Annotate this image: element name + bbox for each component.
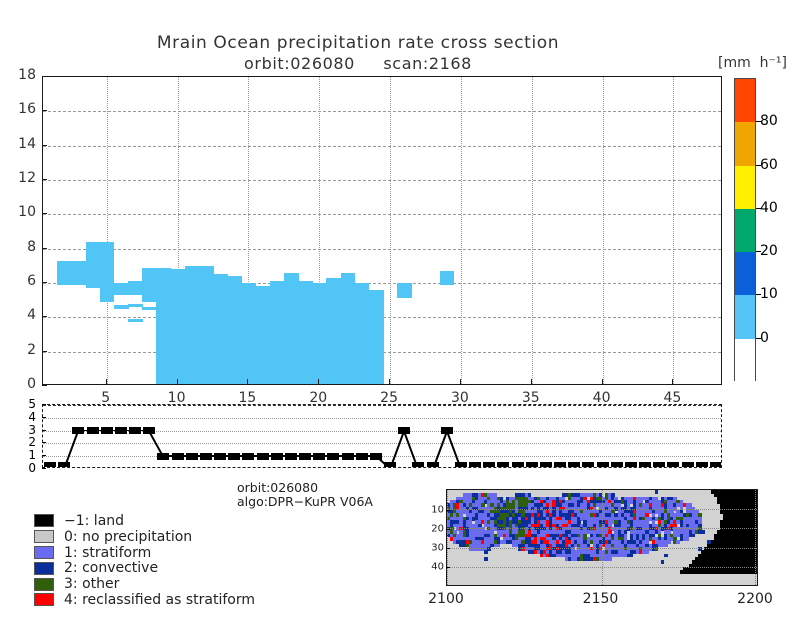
metadata-block: orbit:026080 algo:DPR−KuPR V06A (237, 481, 373, 509)
main-y-tick-mark (42, 316, 47, 317)
main-y-tick-mark (42, 282, 47, 283)
type-panel-gridline (43, 405, 721, 406)
type-step-marker (497, 462, 509, 468)
main-x-tick-mark (672, 379, 673, 385)
legend-item[interactable]: 3: other (34, 576, 255, 592)
colorbar-band (735, 79, 755, 123)
main-y-tick-mark (42, 213, 47, 214)
map-inset[interactable] (446, 489, 758, 586)
type-step-marker (625, 462, 637, 468)
map-pixel (667, 540, 671, 544)
type-panel-y-tick-mark (42, 455, 46, 456)
colorbar-band (735, 295, 755, 339)
map-pixel (608, 557, 612, 561)
precip-column-block (171, 269, 186, 385)
precip-column-block (284, 273, 299, 385)
precip-column-block (185, 266, 200, 385)
legend-item-label: 2: convective (64, 560, 158, 576)
type-step-marker (526, 462, 538, 468)
type-step-marker (455, 462, 467, 468)
map-y-tick-mark (446, 567, 450, 568)
type-step-marker (682, 462, 694, 468)
type-panel-y-tick-mark (42, 404, 46, 405)
type-connector-line (432, 430, 448, 468)
legend-color-swatch (34, 562, 54, 575)
map-x-tick-label: 2200 (725, 591, 785, 607)
map-y-tick-label: 10 (426, 504, 444, 515)
type-step-marker (412, 462, 424, 468)
precip-column-block (128, 281, 143, 295)
type-step-marker (639, 462, 651, 468)
precip-column-block (270, 281, 285, 385)
type-panel-gridline (43, 418, 721, 419)
type-step-marker (710, 462, 722, 468)
map-y-tick-label: 30 (426, 543, 444, 554)
main-y-tick-mark (42, 248, 47, 249)
map-gridline-vertical (447, 490, 448, 585)
main-x-tick-mark (602, 379, 603, 385)
colorbar-band (735, 339, 755, 383)
legend-item-label: 3: other (64, 576, 119, 592)
precip-column-block (114, 283, 129, 295)
map-pixel (701, 530, 705, 534)
colorbar-tick-mark (756, 294, 761, 295)
precip-column-block (142, 268, 157, 302)
colorbar-tick-mark (756, 208, 761, 209)
main-x-tick-mark (247, 379, 248, 385)
main-x-tick-mark (106, 379, 107, 385)
legend-color-swatch (34, 578, 54, 591)
type-step-marker (540, 462, 552, 468)
map-x-tick-label: 2100 (416, 591, 476, 607)
precip-column-block (213, 274, 228, 385)
precip-column-block (298, 281, 313, 385)
main-y-tick-label: 6 (6, 273, 36, 289)
precip-column-block (142, 307, 157, 310)
main-y-tick-label: 0 (6, 376, 36, 392)
main-y-tick-label: 10 (6, 204, 36, 220)
legend-item-label: −1: land (64, 513, 124, 529)
map-pixel (484, 550, 488, 554)
precip-column-block (156, 268, 171, 385)
type-step-marker (611, 462, 623, 468)
map-pixel (686, 537, 690, 541)
legend-item-label: 0: no precipitation (64, 529, 192, 545)
map-pixel (645, 550, 649, 554)
type-panel-gridline (43, 456, 721, 457)
page-subtitle: orbit:026080 scan:2168 (0, 54, 716, 73)
main-y-tick-label: 14 (6, 136, 36, 152)
main-y-tick-mark (42, 110, 47, 111)
precip-column-block (326, 278, 341, 385)
main-y-tick-label: 18 (6, 67, 36, 83)
type-panel-y-tick-mark (42, 468, 46, 469)
precip-column-block (256, 286, 271, 385)
main-x-tick-mark (318, 379, 319, 385)
legend-item[interactable]: 4: reclassified as stratiform (34, 592, 255, 608)
precip-column-block (355, 283, 370, 385)
precip-column-block (241, 283, 256, 385)
map-x-tick-label: 2150 (571, 591, 631, 607)
map-gridline-vertical (602, 490, 603, 585)
map-pixel (664, 554, 668, 558)
colorbar-tick-label: 80 (760, 113, 778, 129)
main-y-tick-mark (42, 179, 47, 180)
precip-column-block (86, 242, 101, 288)
type-step-marker (554, 462, 566, 468)
legend-item[interactable]: 2: convective (34, 560, 255, 576)
type-step-marker (469, 462, 481, 468)
precip-column-block (128, 304, 143, 307)
main-y-tick-label: 8 (6, 239, 36, 255)
map-y-tick-mark (446, 548, 450, 549)
meta-algo: algo:DPR−KuPR V06A (237, 495, 373, 509)
map-pixel (661, 560, 665, 564)
colorbar-band (735, 209, 755, 253)
colorbar-tick-mark (756, 338, 761, 339)
precip-column-block (100, 242, 115, 302)
page-title: Mrain Ocean precipitation rate cross sec… (0, 33, 716, 53)
colorbar-tick-mark (756, 121, 761, 122)
type-step-marker (597, 462, 609, 468)
precip-column-block (57, 261, 72, 285)
colorbar-tick-label: 20 (760, 243, 778, 259)
main-x-tick-mark (531, 379, 532, 385)
map-y-tick-mark (446, 529, 450, 530)
main-y-tick-label: 12 (6, 170, 36, 186)
precip-column-block (114, 305, 129, 308)
main-y-tick-mark (42, 351, 47, 352)
type-connector-line (389, 430, 405, 468)
type-panel-y-tick-mark (42, 430, 46, 431)
legend-color-swatch (34, 530, 54, 543)
legend-color-swatch (34, 593, 54, 606)
colorbar-tick-mark (756, 165, 761, 166)
legend-item[interactable]: 0: no precipitation (34, 529, 255, 545)
legend-item[interactable]: 1: stratiform (34, 545, 255, 561)
colorbar-tick-label: 10 (760, 286, 778, 302)
type-panel-y-tick-mark (42, 442, 46, 443)
legend-color-swatch (34, 546, 54, 559)
map-y-tick-label: 40 (426, 562, 444, 573)
precip-column-block (369, 290, 384, 385)
main-x-tick-mark (177, 379, 178, 385)
colorbar[interactable] (734, 78, 756, 381)
legend-item-label: 4: reclassified as stratiform (64, 592, 255, 608)
colorbar-tick-label: 60 (760, 157, 778, 173)
precip-column-block (440, 271, 455, 285)
precip-column-block (227, 276, 242, 385)
type-panel-y-tick-mark (42, 417, 46, 418)
type-step-marker (568, 462, 580, 468)
map-gridline-vertical (755, 490, 756, 585)
main-x-tick-mark (460, 379, 461, 385)
colorbar-band (735, 122, 755, 166)
type-panel-y-tick-label: 0 (20, 461, 36, 475)
colorbar-tick-label: 0 (760, 330, 769, 346)
type-step-marker (512, 462, 524, 468)
type-step-marker (582, 462, 594, 468)
colorbar-band (735, 166, 755, 210)
precip-column-block (312, 283, 327, 385)
precip-column-block (199, 266, 214, 385)
precip-column-block (71, 261, 86, 285)
map-y-tick-label: 20 (426, 523, 444, 534)
map-pixel (676, 540, 680, 544)
colorbar-tick-label: 40 (760, 200, 778, 216)
precipitation-area-layer (43, 77, 721, 384)
type-step-marker (696, 462, 708, 468)
main-x-tick-mark (389, 379, 390, 385)
meta-orbit: orbit:026080 (237, 481, 373, 495)
type-step-marker (667, 462, 679, 468)
main-y-tick-mark (42, 145, 47, 146)
type-step-marker (653, 462, 665, 468)
colorbar-unit-label: [mm h⁻¹] (718, 55, 787, 71)
map-pixel (484, 557, 488, 561)
main-y-tick-mark (42, 385, 47, 386)
map-pixel (692, 534, 696, 538)
type-step-marker (483, 462, 495, 468)
precip-column-block (128, 319, 143, 322)
map-pixel (655, 490, 659, 494)
main-y-tick-label: 4 (6, 307, 36, 323)
legend-item[interactable]: −1: land (34, 513, 255, 529)
precipitation-cross-section-plot[interactable] (42, 76, 722, 385)
classification-legend: −1: land0: no precipitation1: stratiform… (34, 513, 255, 608)
precipitation-type-panel[interactable] (42, 404, 722, 468)
legend-item-label: 1: stratiform (64, 545, 151, 561)
main-y-tick-label: 16 (6, 101, 36, 117)
legend-color-swatch (34, 514, 54, 527)
precip-column-block (341, 273, 356, 385)
type-connector-line (63, 430, 79, 468)
type-panel-gridline (43, 443, 721, 444)
map-y-tick-mark (446, 510, 450, 511)
main-y-tick-mark (42, 76, 47, 77)
colorbar-band (735, 252, 755, 296)
map-pixel (630, 554, 634, 558)
main-y-tick-label: 2 (6, 342, 36, 358)
precip-column-block (397, 283, 412, 298)
colorbar-tick-mark (756, 251, 761, 252)
